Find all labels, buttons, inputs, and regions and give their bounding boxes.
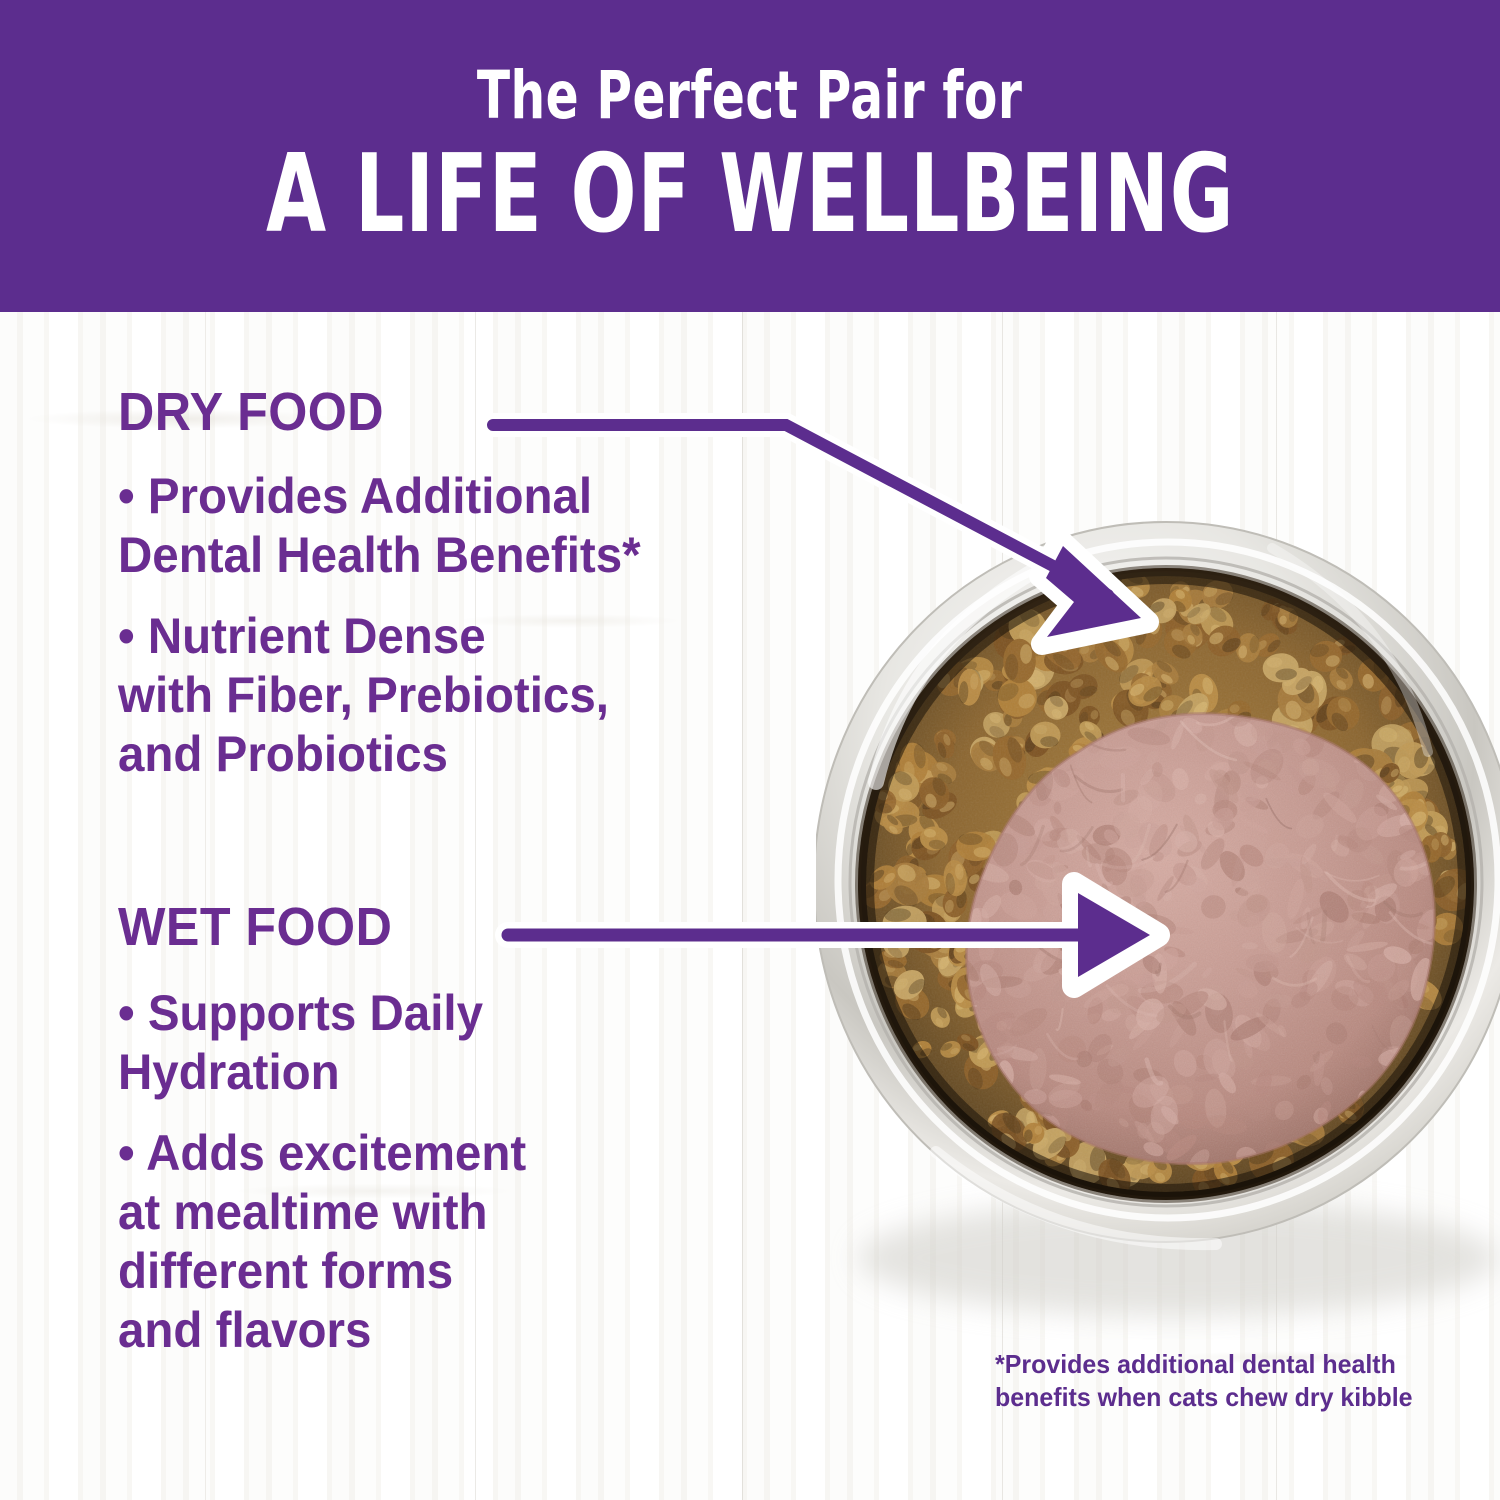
dry-food-bullets: • Provides Additional Dental Health Bene… — [118, 467, 818, 784]
wet-food-bullets: • Supports Daily Hydration • Adds excite… — [118, 984, 818, 1360]
dry-food-section: DRY FOOD • Provides Additional Dental He… — [118, 385, 818, 806]
cat-food-bowl-photo — [816, 452, 1500, 1392]
header-subtitle: The Perfect Pair for — [477, 63, 1022, 129]
list-item: • Adds excitement at mealtime with diffe… — [118, 1124, 783, 1360]
list-item: • Nutrient Dense with Fiber, Prebiotics,… — [118, 607, 783, 784]
wet-food-section: WET FOOD • Supports Daily Hydration • Ad… — [118, 900, 818, 1382]
list-item: • Supports Daily Hydration — [118, 984, 783, 1102]
header-title: A LIFE OF WELLBEING — [266, 141, 1234, 249]
list-item: • Provides Additional Dental Health Bene… — [118, 467, 783, 585]
dry-food-title: DRY FOOD — [118, 385, 769, 439]
infographic-page: The Perfect Pair for A LIFE OF WELLBEING… — [0, 0, 1500, 1500]
header-banner: The Perfect Pair for A LIFE OF WELLBEING — [0, 0, 1500, 312]
wet-food-title: WET FOOD — [118, 900, 769, 954]
footnote-text: *Provides additional dental health benef… — [995, 1348, 1417, 1413]
